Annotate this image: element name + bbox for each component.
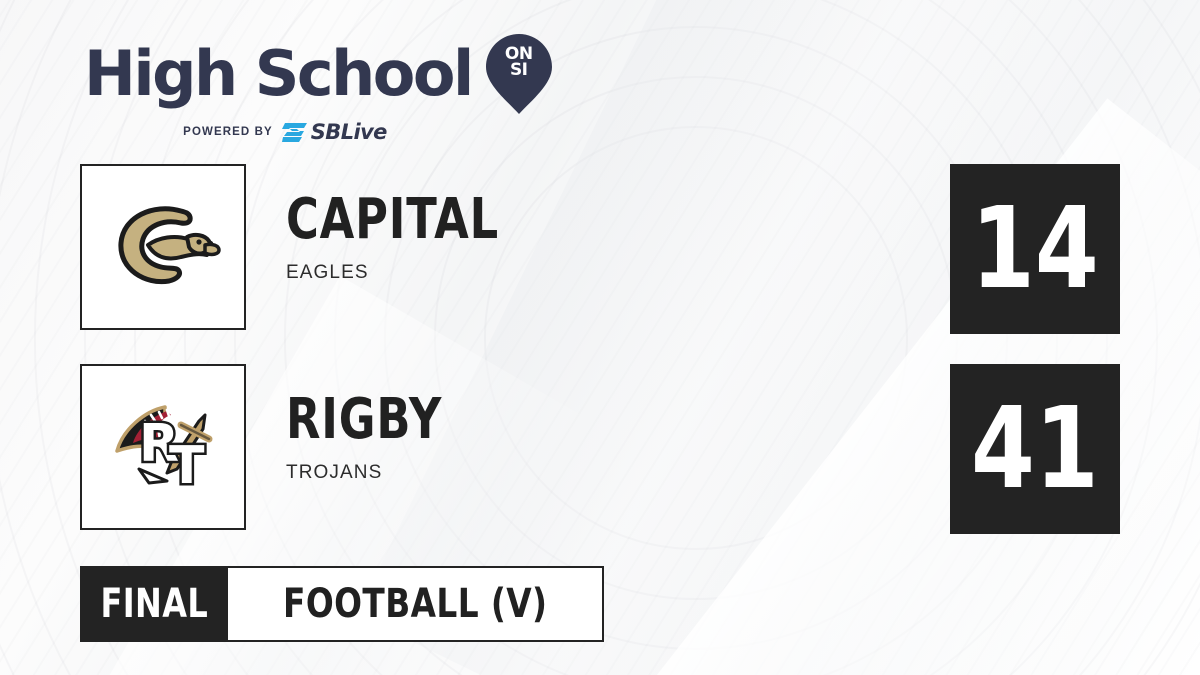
rigby-trojans-logo-icon: R T — [93, 377, 233, 517]
location-pin-icon: ON SI — [486, 34, 552, 114]
brand-lockup: High School ON SI POWERED BY SBLive — [84, 34, 552, 143]
sblive-wordmark: SBLive — [311, 122, 387, 143]
powered-by-row: POWERED BY SBLive — [120, 121, 450, 143]
sport-label: FOOTBALL (V) — [283, 584, 547, 624]
team-score: 41 — [971, 393, 1099, 505]
capital-eagles-logo-icon — [93, 177, 233, 317]
team-logo-box — [80, 164, 246, 330]
team-name: RIGBY — [286, 392, 442, 448]
team-identity: CAPITAL EAGLES — [286, 192, 552, 284]
powered-by-label: POWERED BY — [183, 126, 273, 138]
team-identity: RIGBY TROJANS — [286, 392, 481, 484]
team-row: R T RIGBY TROJANS 41 — [80, 364, 1120, 534]
sport-label-box: FOOTBALL (V) — [228, 566, 604, 642]
team-score-box: 41 — [950, 364, 1120, 534]
team-mascot: EAGLES — [286, 262, 552, 284]
scoreboard-graphic: High School ON SI POWERED BY SBLive — [0, 0, 1200, 675]
game-status-bar: FINAL FOOTBALL (V) — [80, 566, 604, 642]
brand-title-row: High School ON SI — [84, 34, 552, 114]
brand-title: High School — [84, 43, 472, 105]
team-name: CAPITAL — [286, 192, 499, 248]
team-logo-box: R T — [80, 364, 246, 530]
sblive-s-mark-icon — [282, 121, 308, 143]
team-score-box: 14 — [950, 164, 1120, 334]
team-score: 14 — [971, 193, 1099, 305]
svg-text:T: T — [169, 436, 205, 496]
team-mascot: TROJANS — [286, 462, 481, 484]
sblive-logo: SBLive — [282, 121, 387, 143]
pin-label-line2: SI — [486, 62, 552, 78]
status-badge: FINAL — [80, 566, 228, 642]
status-state-label: FINAL — [100, 584, 208, 624]
pin-label: ON SI — [486, 46, 552, 78]
team-row: CAPITAL EAGLES 14 — [80, 164, 1120, 334]
